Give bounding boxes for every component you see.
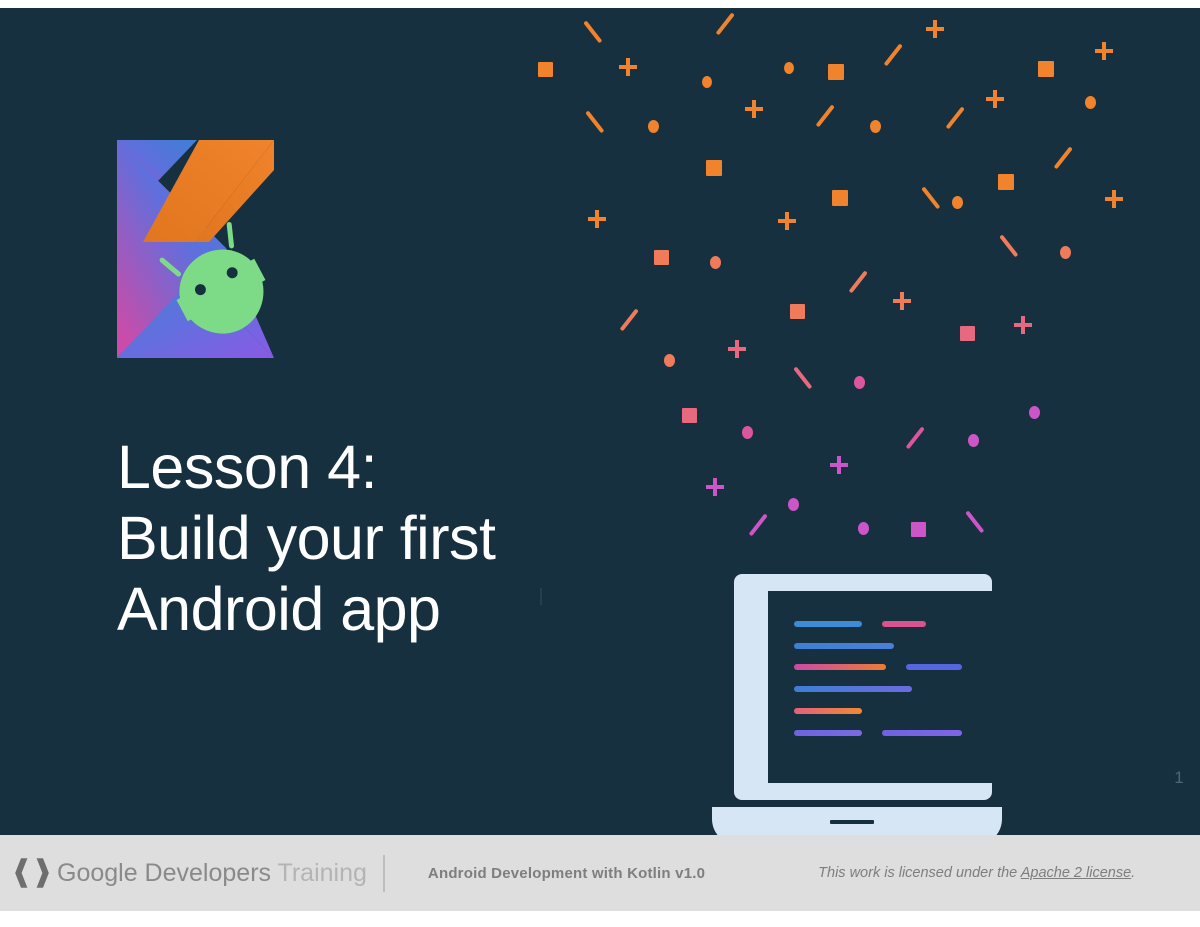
confetti-sq: [682, 408, 697, 423]
slide: Lesson 4: Build your first Android app 1…: [0, 0, 1200, 927]
confetti-sq: [706, 160, 722, 176]
google-developers-training-wordmark: Google Developers Training: [57, 861, 367, 886]
confetti-dot: [784, 62, 794, 74]
confetti-sq: [998, 174, 1014, 190]
confetti-dash: [946, 106, 965, 129]
footer-divider: [383, 855, 385, 892]
laptop-illustration: [712, 574, 1002, 835]
confetti-plus-bar: [1112, 190, 1116, 208]
confetti-plus: [1014, 316, 1032, 334]
confetti-plus: [745, 100, 763, 118]
confetti-dash: [884, 43, 903, 66]
slide-footer: Google Developers Training Android Devel…: [0, 835, 1200, 911]
code-line: [794, 686, 912, 692]
confetti-dash: [849, 270, 868, 293]
confetti-plus-bar: [830, 463, 848, 467]
confetti-sq: [832, 190, 848, 206]
confetti-dot: [1029, 406, 1040, 419]
confetti-dot: [788, 498, 799, 511]
laptop-base: [712, 807, 1002, 835]
confetti-dot: [664, 354, 675, 367]
confetti-dot: [952, 196, 963, 209]
code-brackets-icon: [14, 856, 50, 890]
confetti-plus-bar: [893, 299, 911, 303]
text-caret-artifact: [540, 588, 542, 605]
confetti-dash: [586, 110, 605, 133]
confetti-sq: [911, 522, 926, 537]
kotlin-android-logo: [117, 140, 274, 358]
confetti-plus: [588, 210, 606, 228]
confetti-plus-bar: [785, 212, 789, 230]
confetti-dot: [702, 76, 712, 88]
confetti-plus: [986, 90, 1004, 108]
confetti-plus-bar: [588, 217, 606, 221]
code-line: [794, 643, 894, 649]
apache-license-link[interactable]: Apache 2 license: [1021, 865, 1131, 881]
license-suffix: .: [1131, 865, 1135, 881]
confetti-sq: [960, 326, 975, 341]
confetti-plus: [926, 20, 944, 38]
confetti-plus-bar: [1102, 42, 1106, 60]
page-title: Lesson 4: Build your first Android app: [117, 432, 637, 645]
code-line: [882, 730, 962, 736]
confetti-dash: [1000, 234, 1019, 257]
code-line: [882, 621, 926, 627]
confetti-plus-bar: [706, 485, 724, 489]
brand-google-developers: Google Developers: [57, 859, 271, 887]
confetti-sq: [538, 62, 553, 77]
confetti-plus: [706, 478, 724, 496]
slide-canvas: Lesson 4: Build your first Android app 1: [0, 8, 1200, 835]
confetti-plus-bar: [745, 107, 763, 111]
confetti-plus-bar: [926, 27, 944, 31]
confetti-dash: [922, 186, 941, 209]
confetti-dash: [794, 366, 813, 389]
confetti-dash: [966, 510, 985, 533]
confetti-plus-bar: [993, 90, 997, 108]
course-title: Android Development with Kotlin v1.0: [428, 865, 705, 882]
google-developers-training-logo: Google Developers Training: [14, 855, 385, 892]
confetti-plus-bar: [1014, 323, 1032, 327]
code-line: [794, 621, 862, 627]
confetti-plus-bar: [900, 292, 904, 310]
confetti-plus: [778, 212, 796, 230]
confetti-plus: [830, 456, 848, 474]
license-prefix: This work is licensed under the: [818, 865, 1021, 881]
laptop-lid: [734, 574, 992, 800]
confetti-dot: [854, 376, 865, 389]
page-number: 1: [1168, 768, 1190, 788]
confetti-plus: [728, 340, 746, 358]
confetti-plus: [893, 292, 911, 310]
confetti-plus-bar: [619, 65, 637, 69]
laptop-screen: [768, 591, 1002, 783]
confetti-dot: [1085, 96, 1096, 109]
laptop-trackpad: [830, 820, 874, 824]
confetti-dash: [749, 513, 768, 536]
confetti-plus-bar: [986, 97, 1004, 101]
confetti-sq: [1038, 61, 1054, 77]
confetti-plus-bar: [933, 20, 937, 38]
confetti-plus-bar: [752, 100, 756, 118]
confetti-plus-bar: [626, 58, 630, 76]
confetti-sq: [828, 64, 844, 80]
confetti-plus-bar: [837, 456, 841, 474]
confetti-dash: [620, 308, 639, 331]
confetti-plus-bar: [778, 219, 796, 223]
confetti-dot: [648, 120, 659, 133]
brand-training: Training: [278, 859, 367, 887]
confetti-plus: [1095, 42, 1113, 60]
confetti-dot: [870, 120, 881, 133]
confetti-plus: [619, 58, 637, 76]
confetti-plus-bar: [713, 478, 717, 496]
code-line: [794, 664, 886, 670]
confetti-plus-bar: [1095, 49, 1113, 53]
confetti-plus-bar: [595, 210, 599, 228]
confetti-dash: [716, 12, 735, 35]
confetti-sq: [654, 250, 669, 265]
confetti-sq: [790, 304, 805, 319]
code-line: [906, 664, 962, 670]
confetti-dot: [742, 426, 753, 439]
code-line: [794, 708, 862, 714]
code-line: [794, 730, 862, 736]
confetti-dash: [584, 20, 603, 43]
confetti-dot: [1060, 246, 1071, 259]
confetti-dash: [906, 426, 925, 449]
confetti-plus-bar: [735, 340, 739, 358]
confetti-dot: [710, 256, 721, 269]
confetti-dot: [968, 434, 979, 447]
confetti-plus-bar: [1021, 316, 1025, 334]
confetti-dot: [858, 522, 869, 535]
confetti-plus-bar: [728, 347, 746, 351]
license-notice: This work is licensed under the Apache 2…: [818, 865, 1135, 881]
confetti-plus: [1105, 190, 1123, 208]
confetti-dash: [1054, 146, 1073, 169]
confetti-plus-bar: [1105, 197, 1123, 201]
confetti-particle-field: [0, 8, 1200, 835]
confetti-dash: [816, 104, 835, 127]
kotlin-android-logo-svg: [117, 140, 274, 358]
